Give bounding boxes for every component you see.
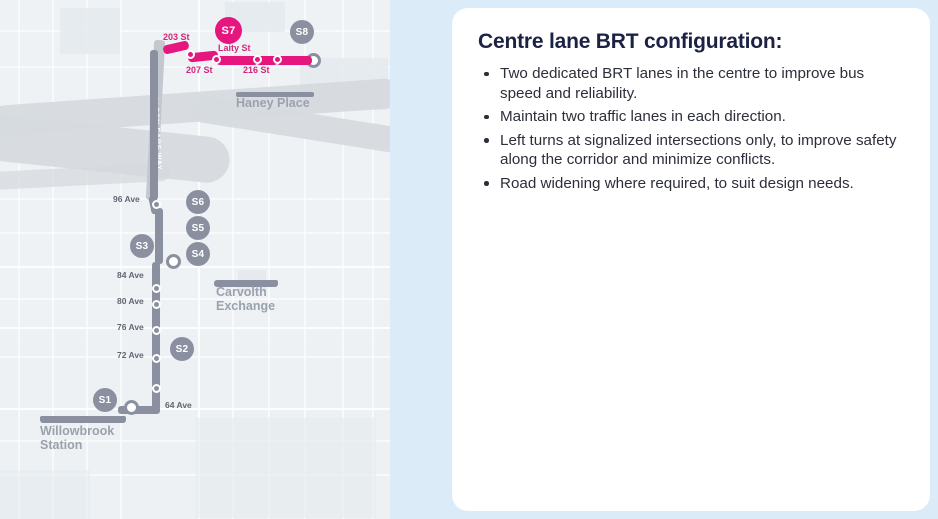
brt-stop-dot: [253, 55, 262, 64]
map-gridline: [0, 266, 390, 268]
route-map-panel[interactable]: GOLDEN EARS WAY S1 S2 S3 S4 S5 S6 S7 S8 …: [0, 0, 390, 519]
map-place-bar: [40, 416, 126, 421]
map-label-96-ave: 96 Ave: [113, 194, 140, 204]
station-badge-label: S3: [136, 241, 149, 252]
map-block: [60, 8, 120, 54]
map-junction-node: [124, 400, 139, 415]
station-badge-s4[interactable]: S4: [186, 242, 210, 266]
map-stop-dot: [152, 354, 161, 363]
brt-route-segment: [216, 56, 258, 65]
map-corridor: [155, 208, 163, 264]
map-label-carvolth-exchange: Carvolth Exchange: [216, 285, 286, 313]
map-label-72-ave: 72 Ave: [117, 350, 144, 360]
map-stop-dot: [152, 200, 161, 209]
station-badge-label: S2: [176, 344, 189, 355]
station-badge-label: S7: [221, 25, 235, 37]
map-gridline: [0, 408, 390, 410]
map-label-80-ave: 80 Ave: [117, 296, 144, 306]
map-gridline: [0, 30, 390, 32]
map-stop-dot: [152, 300, 161, 309]
map-corridor: [150, 50, 158, 200]
bullet-item: Left turns at signalized intersections o…: [478, 131, 904, 170]
bullet-item: Two dedicated BRT lanes in the centre to…: [478, 64, 904, 103]
map-label-76-ave: 76 Ave: [117, 322, 144, 332]
map-label-216-st: 216 St: [243, 65, 270, 75]
station-badge-label: S5: [192, 223, 205, 234]
bullet-item: Road widening where required, to suit de…: [478, 174, 904, 194]
station-badge-s1[interactable]: S1: [93, 388, 117, 412]
brt-stop-dot: [186, 50, 195, 59]
station-badge-s8[interactable]: S8: [290, 20, 314, 44]
brt-stop-dot: [273, 55, 282, 64]
station-badge-label: S6: [192, 197, 205, 208]
map-block: [196, 418, 376, 518]
station-badge-s6[interactable]: S6: [186, 190, 210, 214]
map-label-64-ave: 64 Ave: [165, 400, 192, 410]
station-badge-s2[interactable]: S2: [170, 337, 194, 361]
page-title: Centre lane BRT configuration:: [478, 30, 904, 54]
station-badge-s3[interactable]: S3: [130, 234, 154, 258]
map-label-207-st: 207 St: [186, 65, 213, 75]
map-junction-node: [166, 254, 181, 269]
station-badge-s5[interactable]: S5: [186, 216, 210, 240]
map-gridline: [0, 356, 390, 358]
map-label-willowbrook-station: Willowbrook Station: [40, 424, 122, 452]
station-badge-s7[interactable]: S7: [215, 17, 242, 44]
station-badge-label: S4: [192, 249, 205, 260]
map-label-203-st: 203 St: [163, 32, 190, 42]
map-gridline: [0, 327, 390, 329]
map-block: [0, 470, 90, 519]
map-label-haney-place: Haney Place: [236, 96, 310, 110]
info-card: Centre lane BRT configuration: Two dedic…: [452, 8, 930, 511]
bullet-item: Maintain two traffic lanes in each direc…: [478, 107, 904, 127]
map-stop-dot: [152, 384, 161, 393]
map-label-84-ave: 84 Ave: [117, 270, 144, 280]
map-stop-dot: [152, 284, 161, 293]
map-label-laity-st: Laity St: [218, 43, 251, 53]
station-badge-label: S8: [296, 27, 309, 38]
brt-stop-dot: [212, 55, 221, 64]
map-stop-dot: [152, 326, 161, 335]
bullet-list: Two dedicated BRT lanes in the centre to…: [478, 64, 904, 193]
map-gridline: [0, 298, 390, 300]
station-badge-label: S1: [99, 395, 112, 406]
